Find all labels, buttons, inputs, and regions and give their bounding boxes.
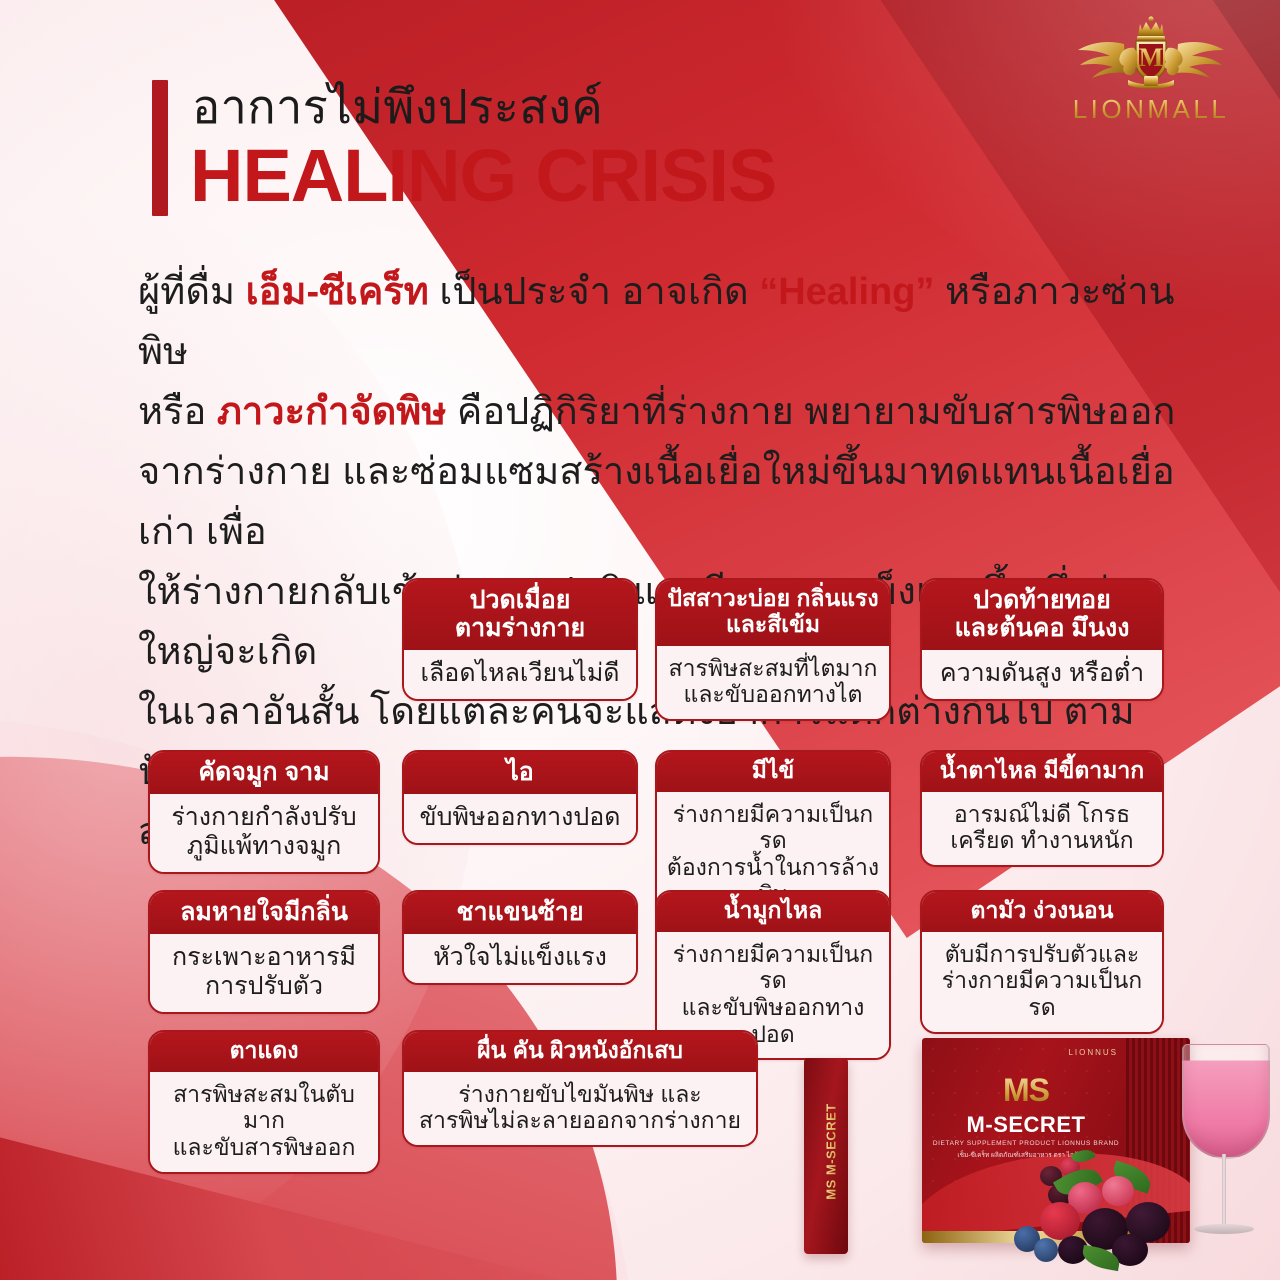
- symptom-title-line: ตาแดง: [158, 1038, 370, 1064]
- symptom-title-line: ตามร่างกาย: [412, 614, 628, 642]
- symptom-title-line: ปัสสาวะบ่อย กลิ่นแรง: [665, 586, 881, 612]
- intro-highlight-product: เอ็ม-ซีเคร็ท: [246, 271, 429, 313]
- symptom-card[interactable]: ผื่น คัน ผิวหนังอักเสบ ร่างกายขับไขมันพิ…: [402, 1030, 758, 1147]
- symptom-title-line: น้ำมูกไหล: [665, 898, 881, 924]
- glass-foot: [1194, 1224, 1254, 1234]
- symptom-desc-line: ร่างกายมีความเป็นกรด: [665, 801, 881, 854]
- symptom-desc-line: ร่างกายกำลังปรับ: [158, 803, 370, 832]
- symptom-title-line: มีไข้: [665, 758, 881, 784]
- box-logo-mark: MS: [922, 1072, 1130, 1109]
- symptom-card[interactable]: น้ำตาไหล มีขี้ตามาก อารมณ์ไม่ดี โกรธ เคร…: [920, 750, 1164, 867]
- symptom-desc-line: ความดันสูง หรือต่ำ: [930, 659, 1154, 688]
- symptom-card-header: ไอ: [404, 752, 636, 794]
- symptom-card[interactable]: ชาแขนซ้าย หัวใจไม่แข็งแรง: [402, 890, 638, 985]
- box-tagline-en: DIETARY SUPPLEMENT PRODUCT LIONNUS BRAND: [922, 1140, 1130, 1147]
- symptom-card[interactable]: ไอ ขับพิษออกทางปอด: [402, 750, 638, 845]
- symptom-desc-line: สารพิษสะสมในตับมาก: [158, 1081, 370, 1134]
- product-photo: MS M-SECRET LIONNUS MS M-SECRET DIETARY …: [782, 1020, 1280, 1280]
- symptom-card-body: ความดันสูง หรือต่ำ: [922, 650, 1162, 699]
- symptom-desc-line: สารพิษไม่ละลายออกจากร่างกาย: [412, 1107, 748, 1134]
- symptom-card-header: มีไข้: [657, 752, 889, 792]
- symptom-card-header: ตามัว ง่วงนอน: [922, 892, 1162, 932]
- symptom-card-body: สารพิษสะสมในตับมาก และขับสารพิษออก: [150, 1072, 378, 1172]
- strawberry-icon: [1040, 1202, 1080, 1240]
- symptom-desc-line: อารมณ์ไม่ดี โกรธ: [930, 801, 1154, 828]
- symptom-card-body: ร่างกายกำลังปรับ ภูมิแพ้ทางจมูก: [150, 794, 378, 872]
- symptom-card-body: กระเพาะอาหารมี การปรับตัว: [150, 934, 378, 1012]
- page-title: HEALING CRISIS: [190, 134, 776, 218]
- symptom-desc-line: ขับพิษออกทางปอด: [412, 803, 628, 832]
- intro-text: หรือ: [138, 391, 217, 433]
- intro-text: ผู้ที่ดื่ม: [138, 271, 246, 313]
- symptom-desc-line: ภูมิแพ้ทางจมูก: [158, 832, 370, 861]
- box-product-name: M-SECRET: [922, 1112, 1130, 1138]
- symptom-title-line: ตามัว ง่วงนอน: [930, 898, 1154, 924]
- symptom-desc-line: เครียด ทำงานหนัก: [930, 827, 1154, 854]
- raspberry-icon: [1102, 1176, 1134, 1206]
- symptom-desc-line: ตับมีการปรับตัวและ: [930, 941, 1154, 968]
- symptom-card-header: ปวดท้ายทอย และต้นคอ มึนงง: [922, 580, 1162, 650]
- intro-highlight-healing: “Healing”: [759, 271, 934, 313]
- symptom-card[interactable]: ลมหายใจมีกลิ่น กระเพาะอาหารมี การปรับตัว: [148, 890, 380, 1014]
- symptom-card-body: ร่างกายขับไขมันพิษ และ สารพิษไม่ละลายออก…: [404, 1072, 756, 1145]
- glass-bowl-with-drink: [1182, 1044, 1270, 1159]
- intro-text: คือปฏิกิริยาที่ร่างกาย พยายามขับสารพิษออ…: [446, 391, 1175, 433]
- symptom-card[interactable]: ปัสสาวะบ่อย กลิ่นแรง และสีเข้ม สารพิษสะส…: [655, 578, 891, 721]
- symptom-card[interactable]: ปวดเมื่อย ตามร่างกาย เลือดไหลเวียนไม่ดี: [402, 578, 638, 701]
- symptom-card-header: ลมหายใจมีกลิ่น: [150, 892, 378, 934]
- symptom-card-body: หัวใจไม่แข็งแรง: [404, 934, 636, 983]
- page-kicker: อาการไม่พึงประสงค์: [192, 78, 603, 136]
- symptom-desc-line: กระเพาะอาหารมี: [158, 943, 370, 972]
- symptom-title-line: ผื่น คัน ผิวหนังอักเสบ: [412, 1038, 748, 1064]
- intro-line-2: หรือ ภาวะกำจัดพิษ คือปฏิกิริยาที่ร่างกาย…: [138, 382, 1193, 442]
- title-accent-bar: [152, 80, 168, 216]
- symptom-card-header: น้ำตาไหล มีขี้ตามาก: [922, 752, 1162, 792]
- symptom-card-body: อารมณ์ไม่ดี โกรธ เครียด ทำงานหนัก: [922, 792, 1162, 865]
- lion-crest-wings-icon: M: [1058, 16, 1244, 98]
- symptom-title-line: คัดจมูก จาม: [158, 758, 370, 786]
- symptom-title-line: น้ำตาไหล มีขี้ตามาก: [930, 758, 1154, 784]
- crest-letter: M: [1139, 43, 1164, 72]
- intro-highlight-detox: ภาวะกำจัดพิษ: [217, 391, 447, 433]
- product-sachet: MS M-SECRET: [804, 1058, 848, 1254]
- intro-line-1: ผู้ที่ดื่ม เอ็ม-ซีเคร็ท เป็นประจำ อาจเกิ…: [138, 262, 1193, 382]
- symptom-card[interactable]: คัดจมูก จาม ร่างกายกำลังปรับ ภูมิแพ้ทางจ…: [148, 750, 380, 874]
- lionmall-logo: M LIONMALL: [1056, 16, 1246, 134]
- symptom-card-body: เลือดไหลเวียนไม่ดี: [404, 650, 636, 699]
- symptom-card-header: คัดจมูก จาม: [150, 752, 378, 794]
- symptom-title-line: ไอ: [412, 758, 628, 786]
- intro-line-3: จากร่างกาย และซ่อมแซมสร้างเนื้อเยื่อใหม่…: [138, 442, 1193, 562]
- box-brand-small: LIONNUS: [1068, 1048, 1118, 1057]
- glass-stem: [1222, 1154, 1226, 1228]
- blueberry-icon: [1034, 1238, 1058, 1262]
- symptom-title-line: และต้นคอ มึนงง: [930, 614, 1154, 642]
- symptom-card[interactable]: ตามัว ง่วงนอน ตับมีการปรับตัวและ ร่างกาย…: [920, 890, 1164, 1034]
- sachet-label: MS M-SECRET: [824, 1077, 839, 1227]
- symptom-card[interactable]: ตาแดง สารพิษสะสมในตับมาก และขับสารพิษออก: [148, 1030, 380, 1174]
- symptom-card-header: ปัสสาวะบ่อย กลิ่นแรง และสีเข้ม: [657, 580, 889, 646]
- symptom-desc-line: เลือดไหลเวียนไม่ดี: [412, 659, 628, 688]
- symptom-card-body: ตับมีการปรับตัวและ ร่างกายมีความเป็นกรด: [922, 932, 1162, 1032]
- box-tagline-th: เช็ม-ซีเคร็ท ผลิตภัณฑ์เสริมอาหาร ตรา ไลอ…: [922, 1150, 1130, 1160]
- symptom-title-line: ปวดเมื่อย: [412, 586, 628, 614]
- symptom-card-header: น้ำมูกไหล: [657, 892, 889, 932]
- symptom-desc-line: การปรับตัว: [158, 972, 370, 1001]
- symptom-title-line: และสีเข้ม: [665, 612, 881, 638]
- symptom-card-body: ขับพิษออกทางปอด: [404, 794, 636, 843]
- symptom-desc-line: และขับออกทางไต: [665, 681, 881, 708]
- infographic-poster: อาการไม่พึงประสงค์ HEALING CRISIS: [0, 0, 1280, 1280]
- symptom-desc-line: ร่างกายขับไขมันพิษ และ: [412, 1081, 748, 1108]
- symptom-card-header: ตาแดง: [150, 1032, 378, 1072]
- symptom-card[interactable]: ปวดท้ายทอย และต้นคอ มึนงง ความดันสูง หรื…: [920, 578, 1164, 701]
- wine-glass: [1172, 1036, 1276, 1266]
- symptom-desc-line: ร่างกายมีความเป็นกรด: [930, 967, 1154, 1020]
- symptom-card-header: ชาแขนซ้าย: [404, 892, 636, 934]
- logo-wordmark: LIONMALL: [1056, 94, 1246, 125]
- intro-text: เป็นประจำ อาจเกิด: [429, 271, 759, 313]
- symptom-title-line: ลมหายใจมีกลิ่น: [158, 898, 370, 926]
- symptom-desc-line: หัวใจไม่แข็งแรง: [412, 943, 628, 972]
- symptom-title-line: ปวดท้ายทอย: [930, 586, 1154, 614]
- symptom-desc-line: ร่างกายมีความเป็นกรด: [665, 941, 881, 994]
- symptom-title-line: ชาแขนซ้าย: [412, 898, 628, 926]
- symptom-card-header: ปวดเมื่อย ตามร่างกาย: [404, 580, 636, 650]
- symptom-desc-line: สารพิษสะสมที่ไตมาก: [665, 655, 881, 682]
- symptom-desc-line: และขับสารพิษออก: [158, 1134, 370, 1161]
- symptom-card-header: ผื่น คัน ผิวหนังอักเสบ: [404, 1032, 756, 1072]
- symptom-card-body: สารพิษสะสมที่ไตมาก และขับออกทางไต: [657, 646, 889, 719]
